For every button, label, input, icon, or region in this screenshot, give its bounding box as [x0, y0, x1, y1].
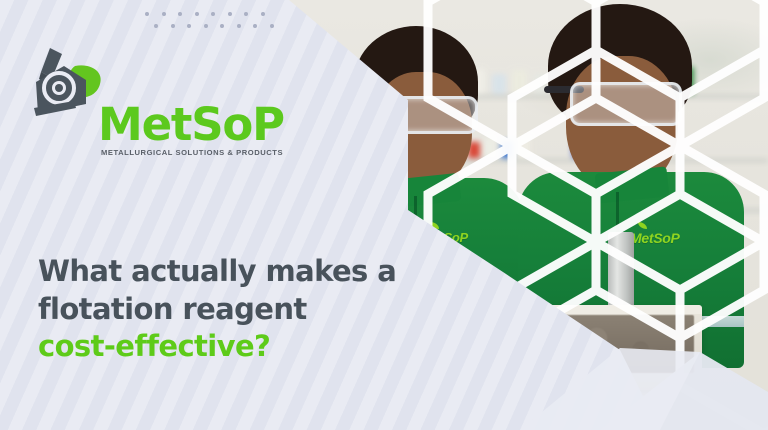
- logo-tagline: METALLURGICAL SOLUTIONS & PRODUCTS: [101, 148, 283, 157]
- metsop-mark-icon: [28, 44, 106, 122]
- dot: [253, 24, 257, 28]
- dot: [244, 12, 248, 16]
- marketing-banner: MetSoP MetSoP: [0, 0, 768, 430]
- dot-grid-decoration: [145, 12, 274, 36]
- polo-logo-right: MetSoP: [630, 230, 680, 246]
- dot: [145, 12, 149, 16]
- dot: [261, 12, 265, 16]
- logo-wordmark: MetSoP: [98, 102, 284, 147]
- dot: [187, 24, 191, 28]
- dot: [237, 24, 241, 28]
- dot: [162, 12, 166, 16]
- dot: [211, 12, 215, 16]
- dot: [220, 24, 224, 28]
- dot: [154, 24, 158, 28]
- dot: [195, 12, 199, 16]
- headline-line-2: flotation reagent: [38, 291, 396, 329]
- brand-logo[interactable]: MetSoP METALLURGICAL SOLUTIONS & PRODUCT…: [28, 44, 243, 169]
- dot: [178, 12, 182, 16]
- dot: [228, 12, 232, 16]
- headline: What actually makes a flotation reagent …: [38, 253, 396, 366]
- dot: [204, 24, 208, 28]
- dot: [270, 24, 274, 28]
- headline-line-1: What actually makes a: [38, 253, 396, 291]
- dot-row-1: [145, 12, 274, 16]
- headline-line-3-accent: cost-effective?: [38, 328, 396, 366]
- dot: [171, 24, 175, 28]
- dot-row-2: [154, 24, 274, 28]
